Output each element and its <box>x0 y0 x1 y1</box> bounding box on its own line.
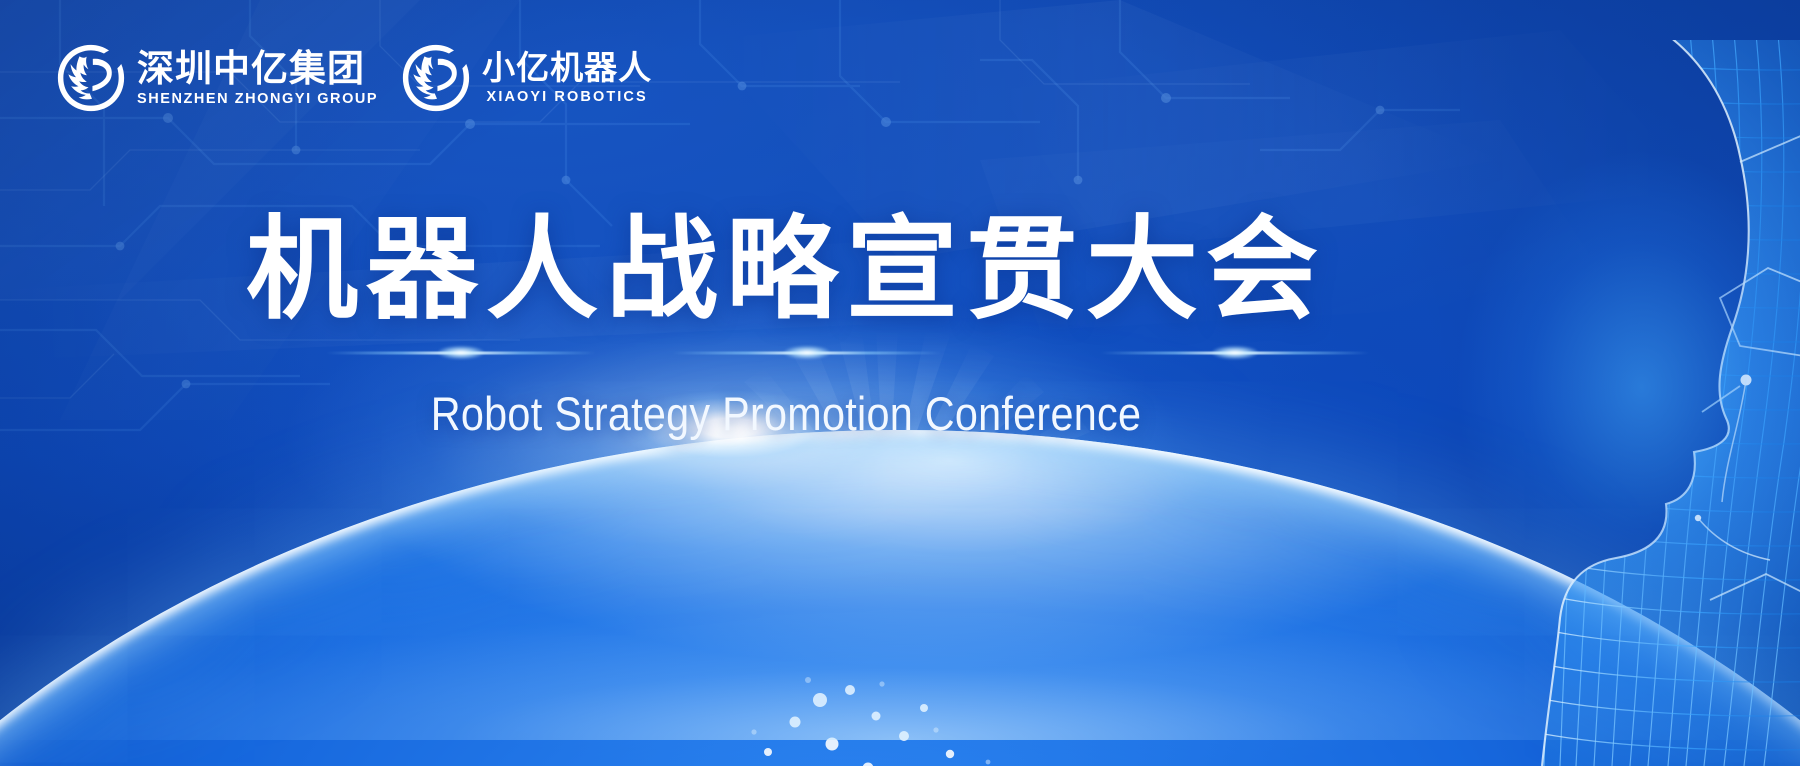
zhongyi-circular-eagle-logo-icon <box>55 42 127 114</box>
zhongyi-name-cn: 深圳中亿集团 <box>137 49 378 88</box>
separator-glow-left <box>326 351 596 354</box>
separator-glow-right <box>1100 351 1370 354</box>
title-block: 机器人战略宣贯大会 Robot Strategy Promotion Confe… <box>0 206 1572 441</box>
zhongyi-name-en: SHENZHEN ZHONGYI GROUP <box>137 91 378 107</box>
logo-row: 深圳中亿集团 SHENZHEN ZHONGYI GROUP 小亿机器人 XIAO… <box>55 42 652 114</box>
sub-title: Robot Strategy Promotion Conference <box>94 386 1477 441</box>
separator-glow-center <box>672 351 942 354</box>
zhongyi-logo-text: 深圳中亿集团 SHENZHEN ZHONGYI GROUP <box>137 49 378 107</box>
main-title: 机器人战略宣贯大会 <box>0 206 1572 336</box>
separator-row <box>0 340 1572 366</box>
xiaoyi-circular-eagle-logo-icon <box>400 42 472 114</box>
logo-shenzhen-zhongyi-group: 深圳中亿集团 SHENZHEN ZHONGYI GROUP <box>55 42 378 114</box>
xiaoyi-name-en: XIAOYI ROBOTICS <box>482 89 652 105</box>
xiaoyi-name-cn: 小亿机器人 <box>482 51 652 86</box>
xiaoyi-logo-text: 小亿机器人 XIAOYI ROBOTICS <box>482 51 652 105</box>
conference-banner: 深圳中亿集团 SHENZHEN ZHONGYI GROUP 小亿机器人 XIAO… <box>0 0 1800 766</box>
logo-xiaoyi-robotics: 小亿机器人 XIAOYI ROBOTICS <box>400 42 652 114</box>
